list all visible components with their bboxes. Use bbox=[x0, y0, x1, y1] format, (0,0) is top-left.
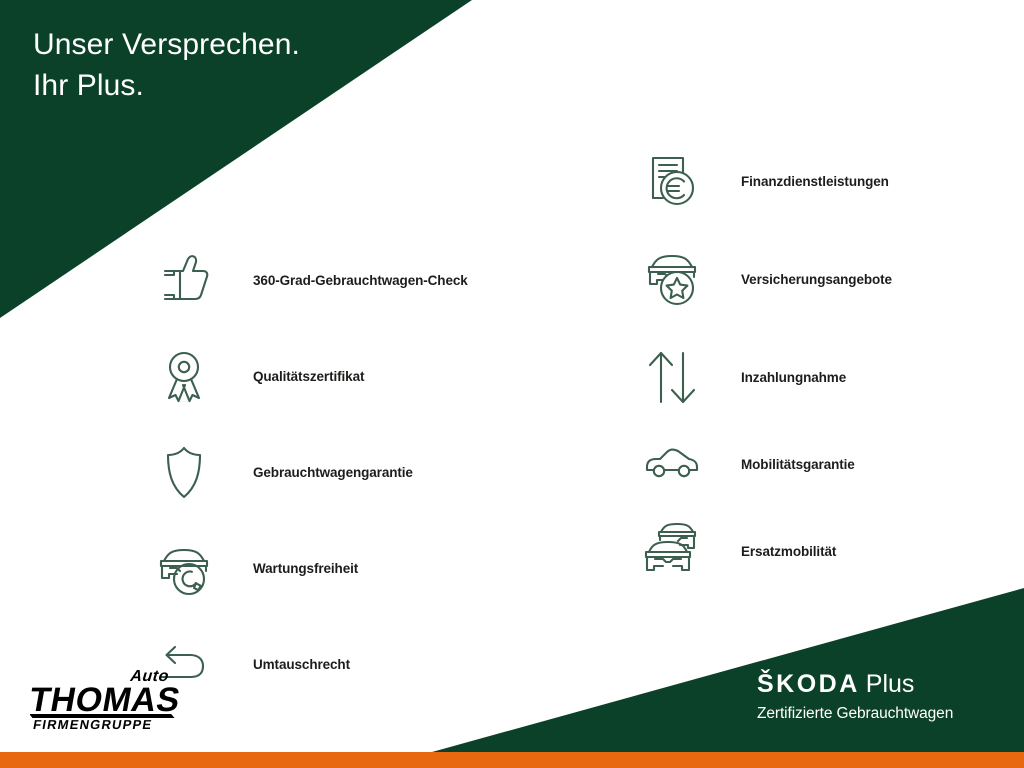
award-rosette-icon bbox=[148, 340, 220, 412]
up-down-arrows-icon bbox=[636, 341, 708, 413]
feature-item-quality-certificate: Qualitätszertifikat bbox=[148, 328, 468, 424]
skoda-tagline: Zertifizierte Gebrauchtwagen bbox=[757, 706, 953, 722]
car-star-badge-icon bbox=[636, 243, 708, 315]
feature-item-mobility-guarantee: Mobilitätsgarantie bbox=[636, 426, 892, 502]
feature-item-360-check: 360-Grad-Gebrauchtwagen-Check bbox=[148, 232, 468, 328]
feature-item-replacement-mobility: Ersatzmobilität bbox=[636, 502, 892, 600]
feature-item-financial-services: Finanzdienstleistungen bbox=[636, 132, 892, 230]
feature-list-left: 360-Grad-Gebrauchtwagen-Check Qualitätsz… bbox=[148, 232, 468, 712]
feature-label: Wartungsfreiheit bbox=[220, 561, 358, 576]
two-cars-icon bbox=[636, 515, 708, 587]
skoda-plus-logo: ŠKODAPlus Zertifizierte Gebrauchtwagen bbox=[757, 672, 953, 722]
logo-line-bottom: FIRMENGRUPPE bbox=[32, 717, 154, 732]
green-wedge-bottom-right bbox=[432, 588, 1024, 752]
feature-item-maintenance-free: Wartungsfreiheit bbox=[148, 520, 468, 616]
car-side-icon bbox=[636, 428, 708, 500]
orange-accent-bar bbox=[0, 752, 1024, 768]
car-wrench-icon bbox=[148, 532, 220, 604]
feature-label: 360-Grad-Gebrauchtwagen-Check bbox=[220, 273, 468, 288]
thumbs-up-icon bbox=[148, 244, 220, 316]
auto-thomas-logo: Auto THOMAS FIRMENGRUPPE bbox=[30, 664, 195, 737]
feature-list-right: Finanzdienstleistungen Versicherungsange… bbox=[636, 132, 892, 600]
skoda-suffix: Plus bbox=[866, 670, 915, 698]
feature-label: Qualitätszertifikat bbox=[220, 369, 364, 384]
page-title: Unser Versprechen. Ihr Plus. bbox=[33, 24, 300, 107]
feature-label: Versicherungsangebote bbox=[708, 272, 892, 287]
logo-line-main: THOMAS bbox=[30, 681, 183, 719]
promo-banner: Unser Versprechen. Ihr Plus. 360-Grad-Ge… bbox=[0, 0, 1024, 768]
feature-label: Finanzdienstleistungen bbox=[708, 174, 889, 189]
feature-item-used-car-warranty: Gebrauchtwagengarantie bbox=[148, 424, 468, 520]
feature-label: Umtauschrecht bbox=[220, 657, 350, 672]
feature-item-insurance-offers: Versicherungsangebote bbox=[636, 230, 892, 328]
shield-icon bbox=[148, 436, 220, 508]
feature-label: Gebrauchtwagengarantie bbox=[220, 465, 413, 480]
document-euro-icon bbox=[636, 145, 708, 217]
feature-item-trade-in: Inzahlungnahme bbox=[636, 328, 892, 426]
feature-item-right-of-exchange: Umtauschrecht bbox=[148, 616, 468, 712]
feature-label: Inzahlungnahme bbox=[708, 370, 846, 385]
feature-label: Mobilitätsgarantie bbox=[708, 457, 855, 472]
feature-label: Ersatzmobilität bbox=[708, 544, 836, 559]
skoda-brand-name: ŠKODA bbox=[757, 670, 860, 698]
